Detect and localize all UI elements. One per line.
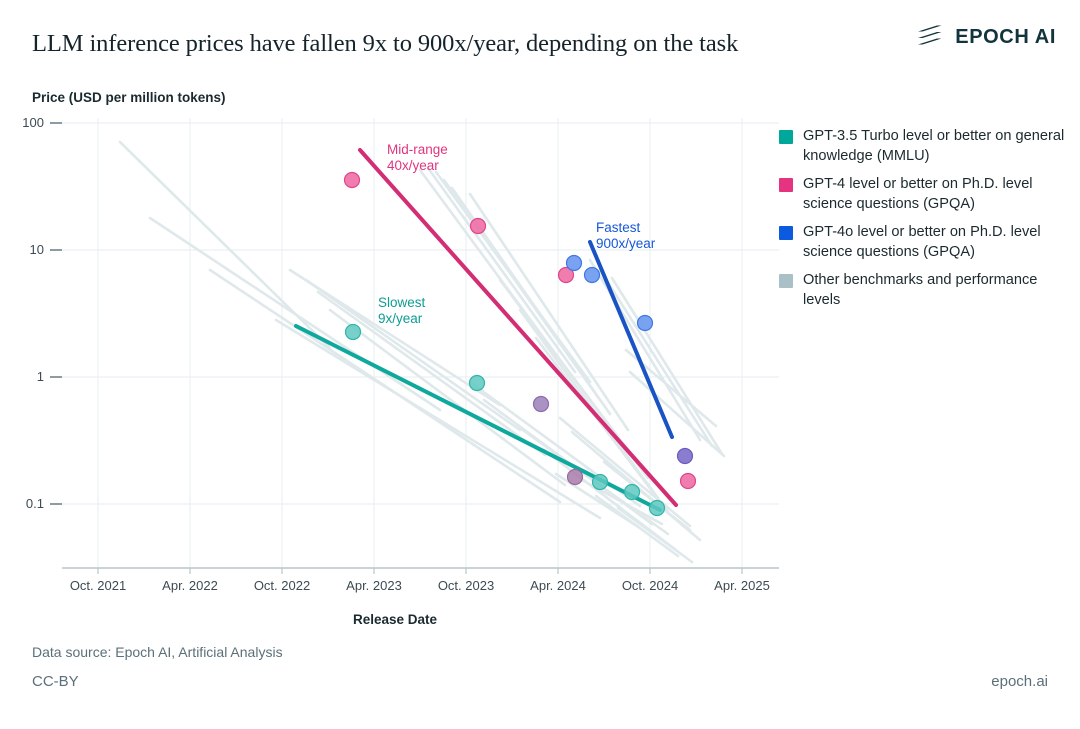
data-point xyxy=(471,219,486,234)
y-tick-label: 0.1 xyxy=(0,496,44,511)
annotation-slowest: Slowest 9x/year xyxy=(378,295,425,326)
legend-item-other[interactable]: Other benchmarks and performance levels xyxy=(779,271,1069,310)
y-tick-marks xyxy=(50,123,62,504)
x-axis-title: Release Date xyxy=(0,612,790,627)
points-gpt4o-overlap xyxy=(678,449,693,464)
data-point xyxy=(568,470,583,485)
x-tick-label: Apr. 2023 xyxy=(329,578,419,593)
data-point xyxy=(346,325,361,340)
data-point xyxy=(650,501,665,516)
legend-swatch-icon xyxy=(779,178,793,192)
data-point xyxy=(625,485,640,500)
data-point xyxy=(345,173,360,188)
legend-label: GPT-4 level or better on Ph.D. level sci… xyxy=(803,175,1069,214)
x-tick-marks xyxy=(98,568,742,574)
annotation-fastest: Fastest 900x/year xyxy=(596,220,655,251)
legend-swatch-icon xyxy=(779,130,793,144)
plot-area: 100 10 1 0.1 Oct. 2021 Apr. 2022 Oct. 20… xyxy=(0,110,790,610)
x-tick-label: Oct. 2022 xyxy=(237,578,327,593)
x-tick-label: Apr. 2022 xyxy=(145,578,235,593)
data-point xyxy=(593,475,608,490)
data-point xyxy=(638,316,653,331)
data-source-text: Data source: Epoch AI, Artificial Analys… xyxy=(32,644,283,660)
trendline-midrange xyxy=(360,150,676,505)
plot-svg xyxy=(0,110,790,610)
license-text: CC-BY xyxy=(32,673,79,690)
x-tick-label: Apr. 2025 xyxy=(697,578,787,593)
x-tick-label: Oct. 2023 xyxy=(421,578,511,593)
data-point xyxy=(585,268,600,283)
data-point xyxy=(567,256,582,271)
epoch-logo-icon xyxy=(915,24,945,50)
y-tick-label: 1 xyxy=(0,369,44,384)
data-point xyxy=(681,474,696,489)
y-axis-title: Price (USD per million tokens) xyxy=(32,90,226,105)
legend-label: GPT-4o level or better on Ph.D. level sc… xyxy=(803,223,1069,262)
data-point xyxy=(534,397,549,412)
legend-item-gpt4o[interactable]: GPT-4o level or better on Ph.D. level sc… xyxy=(779,223,1069,262)
chart-page: LLM inference prices have fallen 9x to 9… xyxy=(0,0,1080,729)
legend-label: Other benchmarks and performance levels xyxy=(803,271,1069,310)
site-url-text[interactable]: epoch.ai xyxy=(991,673,1048,690)
legend-label: GPT-3.5 Turbo level or better on general… xyxy=(803,127,1069,166)
epoch-ai-brand: EPOCH AI xyxy=(915,24,1056,50)
legend-swatch-icon xyxy=(779,274,793,288)
brand-label: EPOCH AI xyxy=(955,26,1056,49)
data-point xyxy=(678,449,693,464)
chart-legend: GPT-3.5 Turbo level or better on general… xyxy=(779,127,1069,319)
legend-item-gpt35[interactable]: GPT-3.5 Turbo level or better on general… xyxy=(779,127,1069,166)
y-tick-label: 100 xyxy=(0,115,44,130)
trendline-fastest xyxy=(590,242,672,437)
legend-item-gpt4[interactable]: GPT-4 level or better on Ph.D. level sci… xyxy=(779,175,1069,214)
x-tick-label: Apr. 2024 xyxy=(513,578,603,593)
x-tick-label: Oct. 2024 xyxy=(605,578,695,593)
chart-header: LLM inference prices have fallen 9x to 9… xyxy=(32,24,1056,68)
page-title: LLM inference prices have fallen 9x to 9… xyxy=(32,30,738,58)
x-tick-label: Oct. 2021 xyxy=(53,578,143,593)
data-point xyxy=(470,376,485,391)
y-tick-label: 10 xyxy=(0,242,44,257)
annotation-midrange: Mid-range 40x/year xyxy=(387,142,448,173)
legend-swatch-icon xyxy=(779,226,793,240)
